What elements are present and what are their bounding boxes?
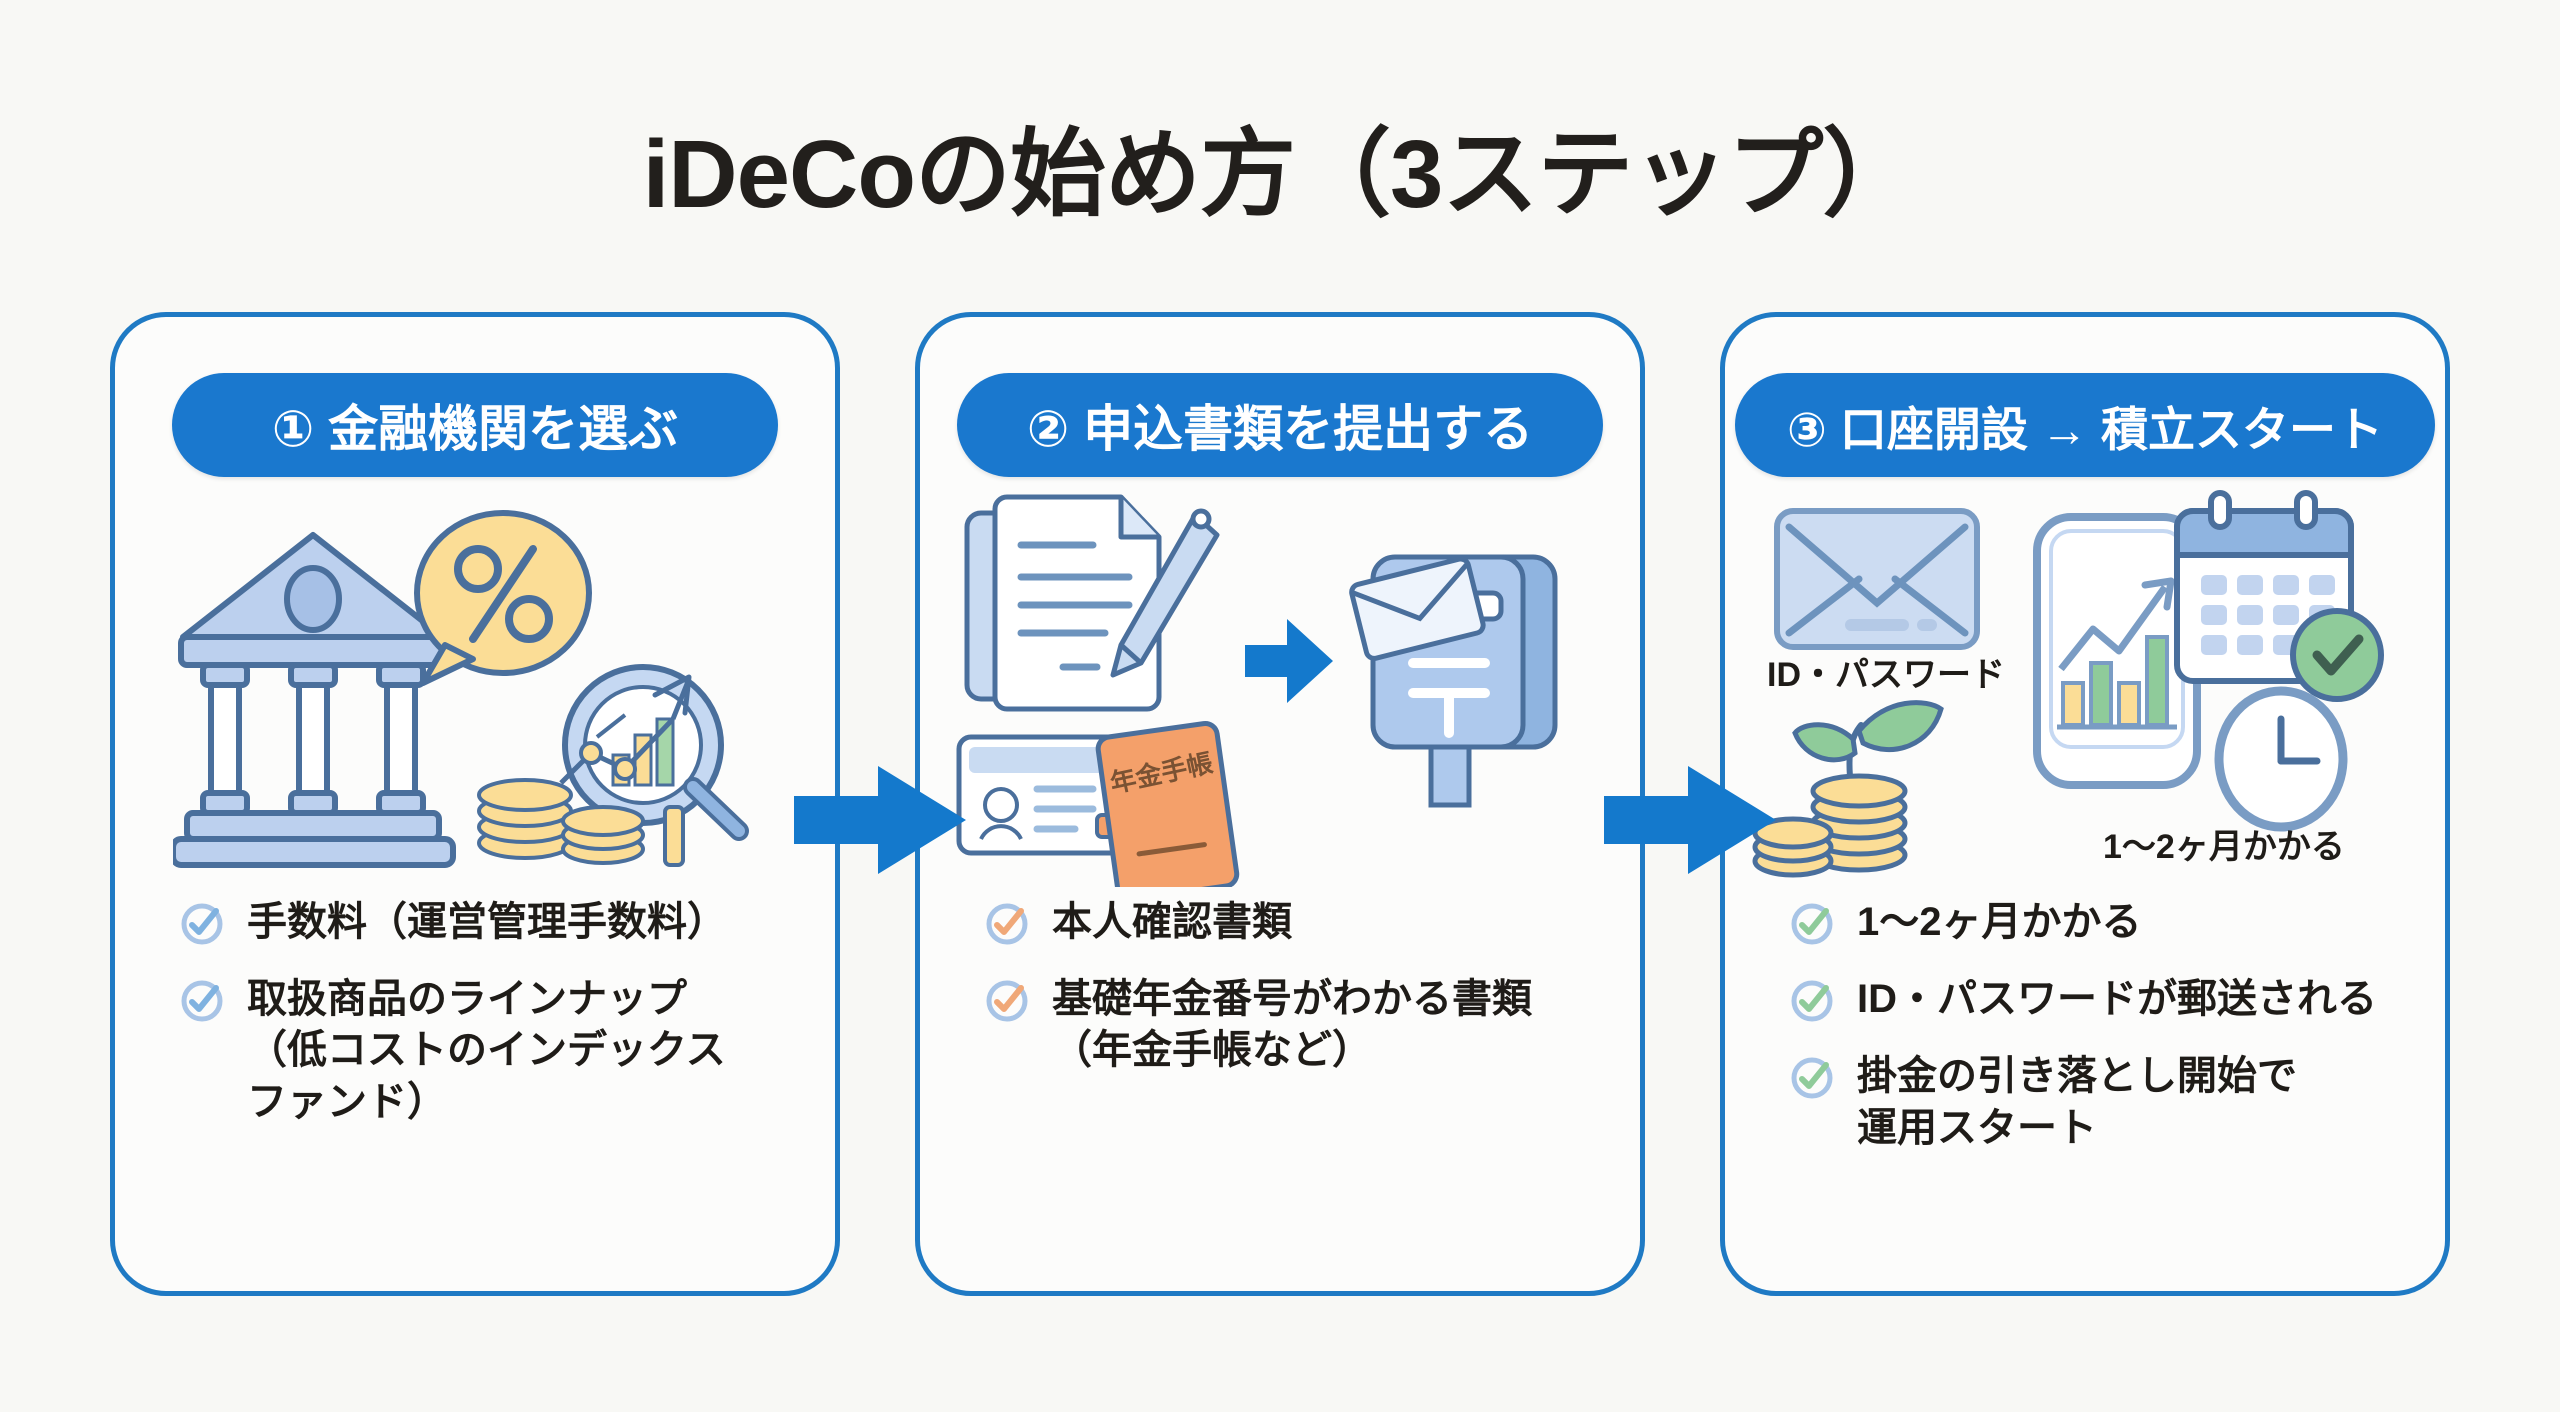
- connector-arrow-1-to-2: [790, 760, 970, 880]
- steps-container: ① 金融機関を選ぶ: [110, 312, 2450, 1296]
- check-circle-icon: [1789, 1055, 1835, 1101]
- pension-book-icon: 年金手帳: [1097, 722, 1239, 887]
- art-label-id-password: ID・パスワード: [1767, 647, 2005, 696]
- bank-icon: [173, 487, 793, 887]
- art-label-duration: 1〜2ヶ月かかる: [2103, 819, 2345, 868]
- check-circle-icon: [984, 978, 1030, 1024]
- document-pen-icon: 年金手帳: [945, 487, 1625, 887]
- envelope-icon: [1777, 511, 1977, 647]
- step-2-bullet-list: 本人確認書類 基礎年金番号がわかる書類 （年金手帳など）: [920, 897, 1640, 1103]
- list-item: 本人確認書類: [984, 897, 1584, 948]
- step-3-bullet-list: 1〜2ヶ月かかる ID・パスワードが郵送される 掛金の引き落とし開始で 運用スタ…: [1725, 897, 2445, 1180]
- step-pill-2: ② 申込書類を提出する: [957, 373, 1603, 477]
- list-item: 手数料（運営管理手数料）: [179, 897, 779, 948]
- list-item-label: ID・パスワードが郵送される: [1857, 974, 2377, 1025]
- sprout-coins-icon: [1755, 703, 1941, 875]
- list-item-label: 1〜2ヶ月かかる: [1857, 897, 2142, 948]
- list-item-label: 掛金の引き落とし開始で 運用スタート: [1857, 1051, 2297, 1153]
- phone-chart-icon: [2037, 517, 2197, 785]
- step-card-2: ② 申込書類を提出する: [915, 312, 1645, 1296]
- step-3-illustration: ID・パスワード 1〜2ヶ月かかる: [1725, 487, 2445, 887]
- clock-icon: [2219, 691, 2343, 827]
- list-item: 1〜2ヶ月かかる: [1789, 897, 2389, 948]
- check-circle-icon: [1789, 901, 1835, 947]
- step-2-illustration: 年金手帳: [920, 487, 1640, 887]
- step-card-1: ① 金融機関を選ぶ: [110, 312, 840, 1296]
- list-item-label: 本人確認書類: [1052, 897, 1292, 948]
- check-circle-icon: [179, 901, 225, 947]
- calendar-check-icon: [2177, 493, 2381, 699]
- step-pill-3: ③ 口座開設 → 積立スタート: [1735, 373, 2435, 477]
- list-item: 掛金の引き落とし開始で 運用スタート: [1789, 1051, 2389, 1153]
- arrow-right-icon: [1245, 619, 1333, 703]
- check-circle-icon: [984, 901, 1030, 947]
- step-1-bullet-list: 手数料（運営管理手数料） 取扱商品のラインナップ （低コストのインデックス ファ…: [115, 897, 835, 1154]
- check-circle-icon: [1789, 978, 1835, 1024]
- step-1-illustration: [115, 487, 835, 887]
- list-item: 基礎年金番号がわかる書類 （年金手帳など）: [984, 974, 1584, 1076]
- percent-bubble-icon: [417, 513, 589, 683]
- mailbox-icon: [1350, 557, 1555, 805]
- list-item: ID・パスワードが郵送される: [1789, 974, 2389, 1025]
- list-item: 取扱商品のラインナップ （低コストのインデックス ファンド）: [179, 974, 779, 1128]
- page-title: iDeCoの始め方（3ステップ）: [0, 96, 2560, 235]
- list-item-label: 取扱商品のラインナップ （低コストのインデックス ファンド）: [247, 974, 726, 1128]
- step-pill-1: ① 金融機関を選ぶ: [172, 373, 778, 477]
- step-card-3: ③ 口座開設 → 積立スタート: [1720, 312, 2450, 1296]
- check-circle-icon: [179, 978, 225, 1024]
- list-item-label: 手数料（運営管理手数料）: [247, 897, 727, 948]
- list-item-label: 基礎年金番号がわかる書類 （年金手帳など）: [1052, 974, 1532, 1076]
- connector-arrow-2-to-3: [1600, 760, 1780, 880]
